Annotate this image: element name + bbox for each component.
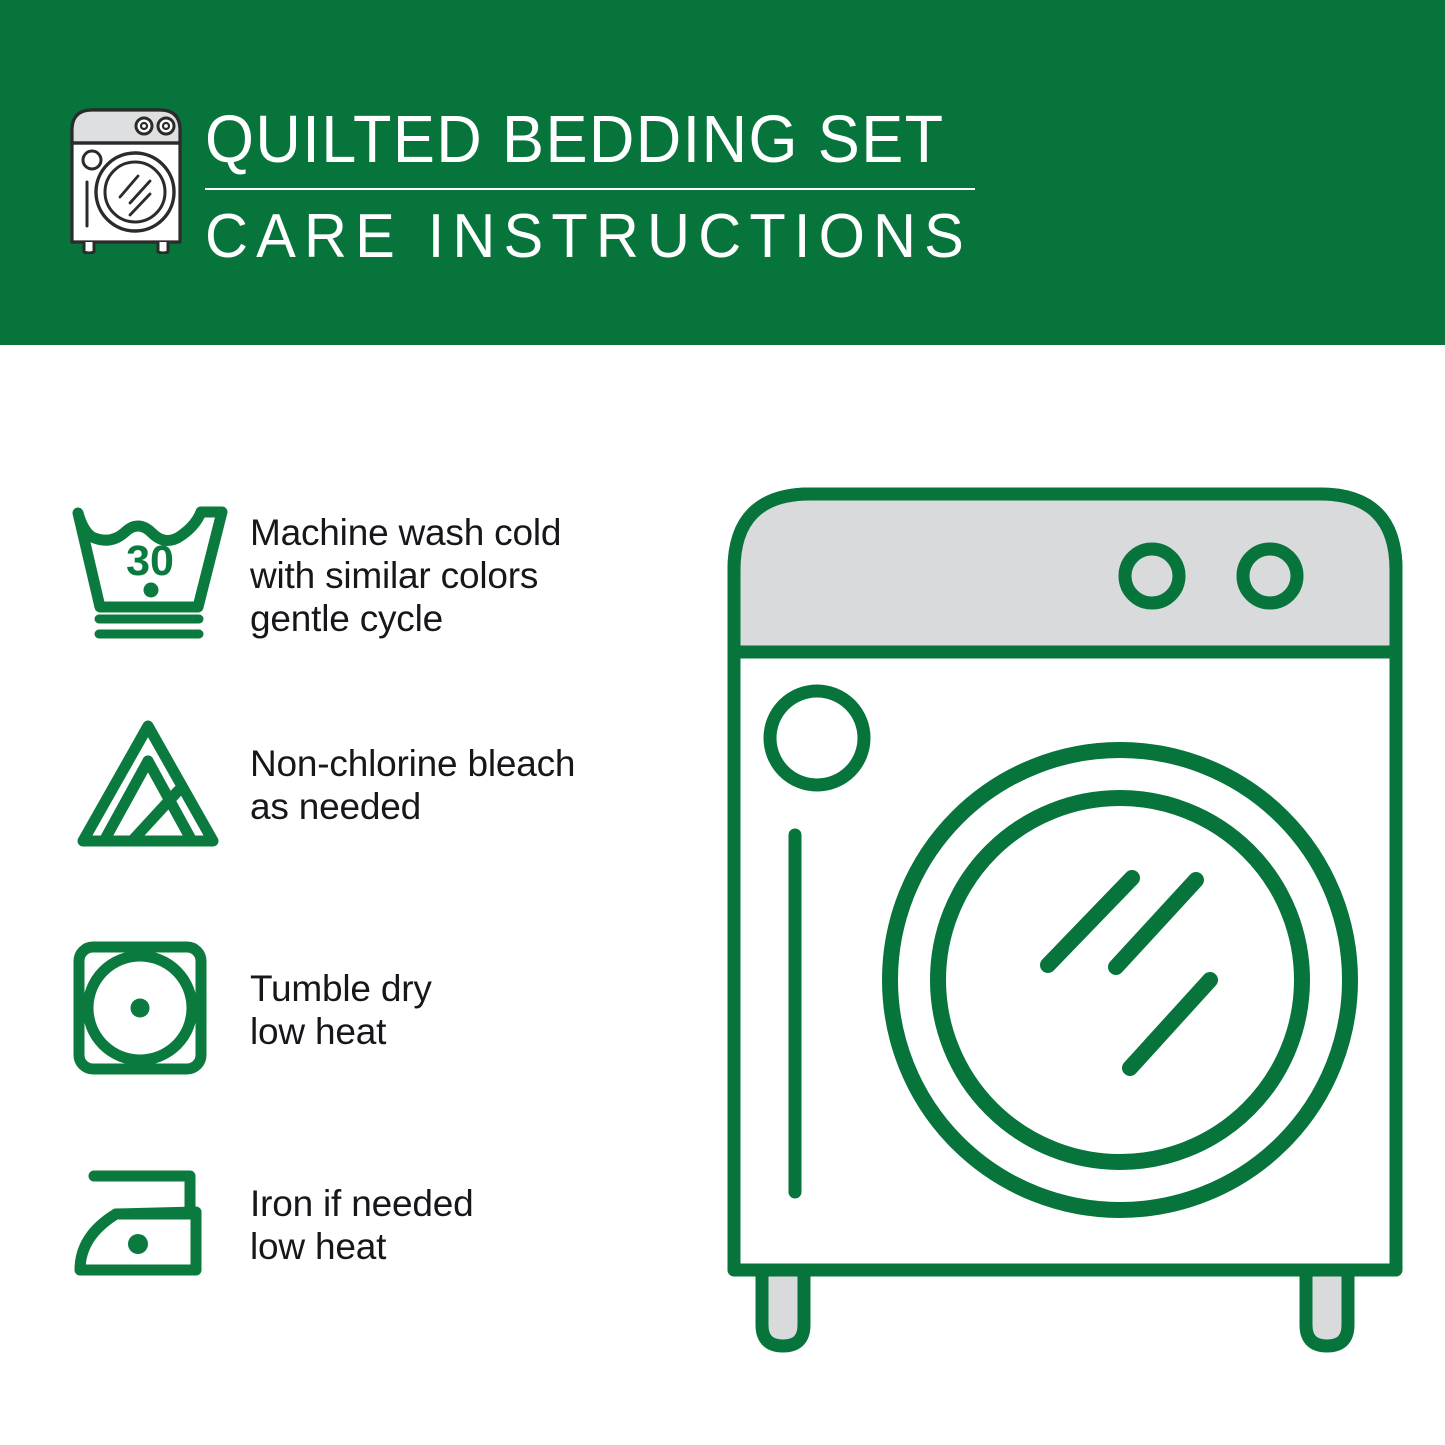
care-instruction-row-dry: Tumble dry low heat xyxy=(70,935,690,1085)
tumble-dry-icon xyxy=(70,938,210,1083)
header-divider xyxy=(205,188,975,190)
care-instruction-text-dry: Tumble dry low heat xyxy=(250,967,690,1053)
care-instruction-row-iron: Iron if needed low heat xyxy=(70,1150,690,1300)
header-text-block: QUILTED BEDDING SET CARE INSTRUCTIONS xyxy=(205,104,995,271)
bleach-triangle-icon xyxy=(70,713,230,858)
wash-tub-icon: 30 xyxy=(70,503,234,648)
care-instruction-row-bleach: Non-chlorine bleach as needed xyxy=(70,710,690,860)
care-instruction-text-wash: Machine wash cold with similar colors ge… xyxy=(250,511,690,640)
care-icon-cell xyxy=(70,1158,250,1293)
care-icon-cell: 30 xyxy=(70,503,250,648)
care-icon-cell xyxy=(70,938,250,1083)
wash-dot-icon xyxy=(144,582,159,597)
care-icon-cell xyxy=(70,713,250,858)
care-instructions-page: QUILTED BEDDING SET CARE INSTRUCTIONS 30 xyxy=(0,0,1445,1445)
care-instruction-text-iron: Iron if needed low heat xyxy=(250,1182,690,1268)
care-instruction-text-bleach: Non-chlorine bleach as needed xyxy=(250,742,690,828)
wash-temperature-label: 30 xyxy=(126,537,174,585)
washing-machine-icon xyxy=(62,102,190,254)
header-band: QUILTED BEDDING SET CARE INSTRUCTIONS xyxy=(0,0,1445,345)
care-instruction-row-wash: 30 Machine wash cold with similar colors… xyxy=(70,495,690,655)
iron-icon xyxy=(70,1158,234,1293)
page-subtitle: CARE INSTRUCTIONS xyxy=(205,203,963,271)
iron-heat-dot-icon xyxy=(128,1234,148,1254)
washing-machine-illustration xyxy=(720,480,1410,1360)
page-title: QUILTED BEDDING SET xyxy=(205,104,948,176)
dry-heat-dot-icon xyxy=(131,998,150,1017)
